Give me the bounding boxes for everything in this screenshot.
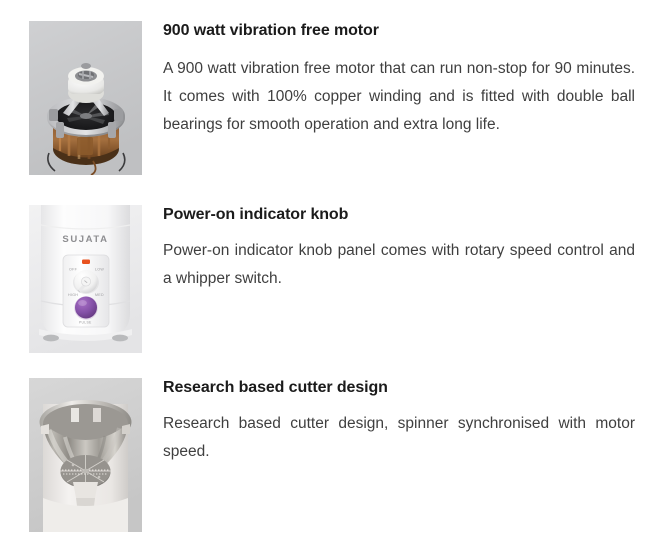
feature-title: 900 watt vibration free motor: [163, 21, 635, 41]
feature-list-page: 900 watt vibration free motor A 900 watt…: [0, 0, 652, 560]
feature-row: SUJATA OFF LOW HIGH MED PULSE: [0, 205, 652, 353]
svg-text:MED: MED: [95, 293, 104, 297]
control-panel-photo: SUJATA OFF LOW HIGH MED PULSE: [29, 205, 142, 353]
feature-text-column: Research based cutter design Research ba…: [163, 378, 635, 466]
pulse-switch: [75, 297, 97, 319]
feature-text-column: Power-on indicator knob Power-on indicat…: [163, 205, 635, 293]
svg-text:HIGH: HIGH: [68, 293, 78, 297]
feature-image-thumbnail: [29, 378, 142, 532]
power-indicator-led: [82, 260, 90, 265]
motor-photo: [29, 21, 142, 175]
brand-label: SUJATA: [62, 234, 108, 245]
feature-image-thumbnail: SUJATA OFF LOW HIGH MED PULSE: [29, 205, 142, 353]
feature-image-thumbnail: [29, 21, 142, 175]
feature-row: 900 watt vibration free motor A 900 watt…: [0, 21, 652, 175]
svg-text:OFF: OFF: [69, 268, 78, 272]
feature-description: A 900 watt vibration free motor that can…: [163, 55, 635, 139]
feature-title: Research based cutter design: [163, 378, 635, 398]
feature-row: Research based cutter design Research ba…: [0, 378, 652, 532]
feature-description: Research based cutter design, spinner sy…: [163, 410, 635, 466]
feature-title: Power-on indicator knob: [163, 205, 635, 225]
feature-text-column: 900 watt vibration free motor A 900 watt…: [163, 21, 635, 139]
svg-text:PULSE: PULSE: [79, 321, 92, 325]
svg-text:LOW: LOW: [95, 268, 104, 272]
cutter-photo: [29, 378, 142, 532]
feature-description: Power-on indicator knob panel comes with…: [163, 237, 635, 293]
